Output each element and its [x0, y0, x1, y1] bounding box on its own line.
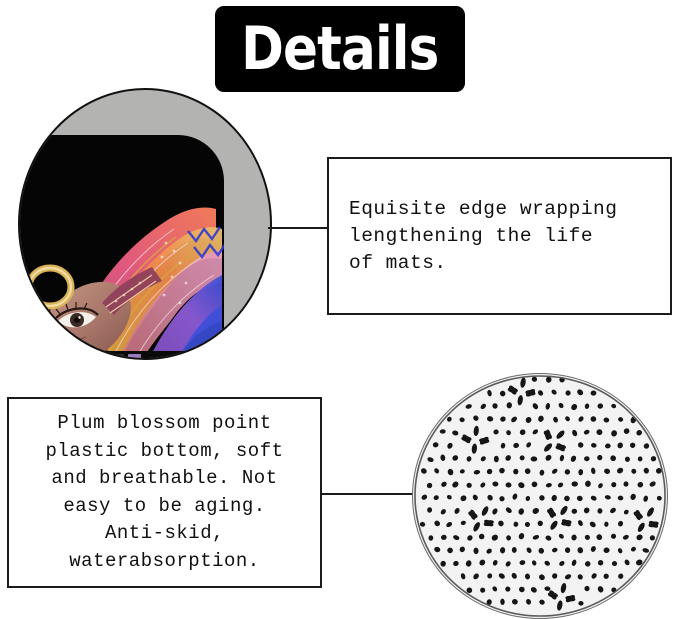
callout-line: easy to be aging.	[17, 493, 312, 521]
plastic-bottom-photo	[412, 373, 668, 619]
product-details-page: Details	[0, 0, 679, 619]
callout-line: waterabsorption.	[17, 548, 312, 576]
strip-chip	[128, 354, 141, 361]
callout-line: of mats.	[349, 250, 670, 277]
plum-blossom-dot-texture	[413, 374, 667, 618]
connector-line-top	[268, 227, 330, 229]
details-title-badge: Details	[215, 6, 465, 92]
callout-line: Plum blossom point	[17, 410, 312, 438]
callout-line: lengthening the life	[349, 223, 670, 250]
callout-line: and breathable. Not	[17, 465, 312, 493]
connector-line-bottom	[320, 493, 416, 495]
callout-line: Equisite edge wrapping	[349, 196, 670, 223]
strip-chip	[112, 354, 124, 361]
strip-chip	[30, 354, 44, 361]
strip-chip	[78, 354, 108, 361]
mat-artwork	[18, 135, 224, 360]
page-title: Details	[241, 19, 438, 79]
callout-edge-wrapping: Equisite edge wrapping lengthening the l…	[327, 157, 672, 315]
callout-plastic-bottom: Plum blossom point plastic bottom, soft …	[7, 397, 322, 588]
mat-edge-strip	[18, 351, 224, 360]
strip-chip	[48, 354, 74, 361]
callout-line: Anti-skid,	[17, 520, 312, 548]
mat-body	[18, 135, 224, 360]
mat-edge-photo	[18, 88, 272, 360]
callout-line: plastic bottom, soft	[17, 438, 312, 466]
